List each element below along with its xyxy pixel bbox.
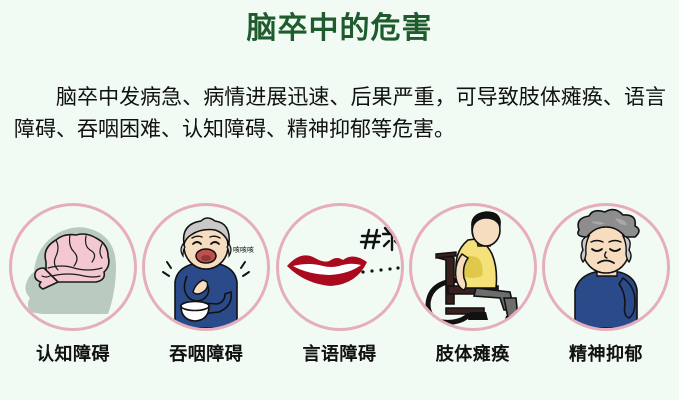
icon-cell-depression[interactable]: 精神抑郁	[541, 203, 671, 378]
icon-circle-cognitive-impairment	[9, 203, 137, 331]
cough-annotation-text: 咳咳咳	[233, 245, 254, 254]
icon-circle-speech-disorder	[276, 203, 404, 331]
icon-circle-depression	[542, 203, 670, 331]
icon-label-cognitive-impairment: 认知障碍	[36, 340, 110, 366]
icon-label-swallowing-disorder: 吞咽障碍	[169, 340, 243, 366]
icon-label-depression: 精神抑郁	[569, 340, 643, 366]
icon-cell-limb-paralysis[interactable]: 肢体瘫痪	[408, 203, 538, 378]
harm-icons-row: 认知障碍	[0, 203, 679, 378]
wheelchair-person-icon	[412, 206, 534, 328]
icon-cell-cognitive-impairment[interactable]: 认知障碍	[8, 203, 138, 378]
body-paragraph: 脑卒中发病急、病情进展迅速、后果严重，可导致肢体瘫痪、语言障碍、吞咽困难、认知障…	[14, 82, 666, 146]
choking-elderly-person-icon: 咳咳咳	[145, 206, 267, 328]
icon-label-limb-paralysis: 肢体瘫痪	[436, 340, 510, 366]
depressed-elderly-storm-cloud-icon	[545, 206, 667, 328]
slide-canvas: 脑卒中的危害 脑卒中发病急、病情进展迅速、后果严重，可导致肢体瘫痪、语言障碍、吞…	[0, 0, 679, 400]
icon-circle-limb-paralysis	[409, 203, 537, 331]
icon-cell-swallowing-disorder[interactable]: 咳咳咳 吞咽障碍	[141, 203, 271, 378]
page-title: 脑卒中的危害	[0, 8, 679, 50]
lips-garbled-speech-icon	[279, 206, 401, 328]
icon-label-speech-disorder: 言语障碍	[303, 340, 377, 366]
icon-circle-swallowing-disorder: 咳咳咳	[142, 203, 270, 331]
icon-cell-speech-disorder[interactable]: 言语障碍	[275, 203, 405, 378]
brain-head-icon	[12, 206, 134, 328]
